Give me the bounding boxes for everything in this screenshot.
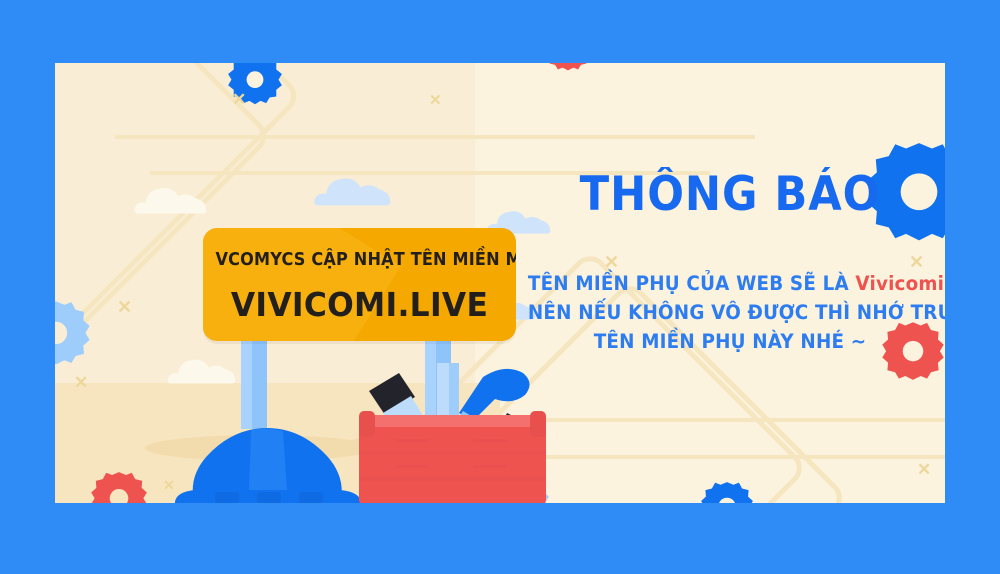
sparkle-x-3: ✕ (117, 298, 132, 316)
gear-left-lightblue-icon (55, 300, 91, 370)
sign-headline-text: VCOMYCS CẬP NHẬT TÊN MIỀN MỚI: (216, 250, 504, 270)
gear-bottom-red-icon (90, 471, 148, 503)
announcement-body: TÊN MIỀN PHỤ CỦA WEB SẼ LÀ Vivicomi.co N… (515, 269, 945, 356)
sign-domain-text: VIVICOMI.LIVE (211, 285, 508, 324)
cloud-upper-mid-icon (313, 171, 395, 207)
announcement-body-line-3: TÊN MIỀN PHỤ NÀY NHÉ ~ (528, 327, 932, 356)
domain-sign-board: VCOMYCS CẬP NHẬT TÊN MIỀN MỚI: VIVICOMI.… (203, 228, 516, 341)
announcement-body-line-1: TÊN MIỀN PHỤ CỦA WEB SẼ LÀ Vivicomi.co (528, 269, 932, 298)
announcement-banner: ✕ ✕ ✕ ✕ ✕ ✕ ✕ ✕ ✕ ✕ ✕ (0, 0, 1000, 574)
announcement-title: THÔNG BÁO (532, 167, 928, 222)
sign-post-left-highlight (241, 331, 252, 429)
sparkle-x-6: ✕ (74, 374, 88, 391)
announcement-text-column: THÔNG BÁO TÊN MIỀN PHỤ CỦA WEB SẼ LÀ Viv… (515, 63, 945, 503)
hard-hat-illustration (165, 418, 370, 503)
body-line-1-before: TÊN MIỀN PHỤ CỦA WEB SẼ LÀ (528, 272, 856, 295)
cloud-upper-left-icon (133, 181, 211, 215)
sparkle-x-1: ✕ (232, 91, 246, 108)
announcement-card: ✕ ✕ ✕ ✕ ✕ ✕ ✕ ✕ ✕ ✕ ✕ (55, 63, 945, 503)
sparkle-x-2: ✕ (429, 93, 442, 108)
cloud-mid-left-icon (165, 353, 241, 385)
sign-post-left (241, 331, 267, 429)
sub-domain-brand: Vivicomi.co (855, 272, 945, 295)
announcement-body-line-2: NÊN NẾU KHÔNG VÔ ĐƯỢC THÌ NHỚ TRUY CẬP (528, 298, 932, 327)
